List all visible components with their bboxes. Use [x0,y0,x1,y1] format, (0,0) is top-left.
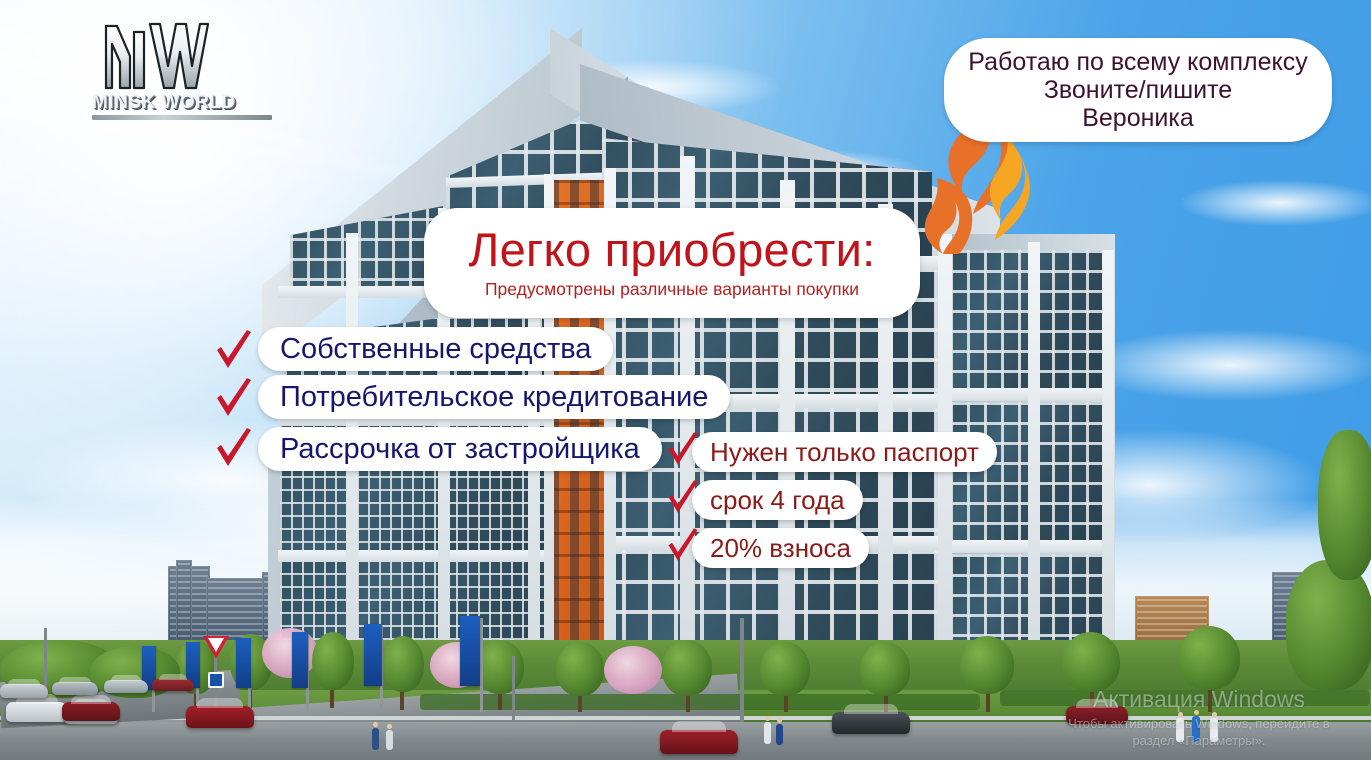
banner-flag [364,624,382,686]
promo-image: MINSK WORLD Работаю по всему комплексу З… [0,0,1371,760]
contact-line-1: Работаю по всему комплексу [968,48,1307,76]
installment-pill-2[interactable]: срок 4 года [692,480,863,520]
contact-line-3: Вероника [1082,104,1194,132]
contact-line-2: Звоните/пишите [1044,76,1232,104]
tree [382,636,424,692]
pedestrian [776,724,783,745]
tree [1178,626,1240,690]
option-pill-2[interactable]: Потребительское кредитование [258,375,730,419]
option-label-3: Рассрочка от застройщика [280,433,640,466]
car [832,712,910,734]
check-mark-icon [214,428,254,472]
yield-sign-icon [203,636,229,659]
tree [1062,632,1120,692]
sign-post [512,656,515,720]
tree [960,636,1014,694]
pedestrian [1210,718,1218,742]
facade-pilaster [1102,250,1114,670]
pedestrian [1176,718,1184,742]
tree [662,640,712,696]
tree [1286,560,1371,690]
tree [556,642,604,696]
tree [312,632,354,690]
tree [760,642,810,696]
pedestrian [764,722,771,744]
tree [860,642,910,696]
option-label-1: Собственные средства [280,333,591,366]
option-pill-3[interactable]: Рассрочка от застройщика [258,427,662,471]
car [6,702,68,722]
car [104,680,148,693]
logo-underbar [92,115,272,120]
banner-flag [460,616,480,686]
blossom-tree [604,646,662,694]
check-mark-icon [214,378,254,422]
banner-flag [292,632,308,688]
car [62,702,120,721]
car [186,706,254,728]
contact-bubble: Работаю по всему комплексу Звоните/пишит… [944,38,1332,142]
car [152,679,194,691]
flag-pole [480,618,483,712]
car [660,730,738,754]
installment-pill-1[interactable]: Нужен только паспорт [692,432,997,472]
car [52,682,98,695]
hedge [1000,690,1370,706]
installment-label-2: срок 4 года [710,485,845,516]
mw-monogram-icon [100,18,210,92]
blossom-tree [262,628,318,678]
tree [476,640,524,694]
option-pill-1[interactable]: Собственные средства [258,327,613,371]
car [1066,706,1128,724]
minsk-world-logo: MINSK WORLD [92,18,272,118]
pedestrian [372,728,379,750]
check-mark-icon [214,330,254,374]
page-title: Легко приобрести: [468,226,875,273]
pedestrian-crossing-sign-icon [208,672,224,688]
pedestrian [1192,716,1200,742]
page-subtitle: Предусмотрены различные варианты покупки [485,279,859,300]
lamp-post [740,618,744,722]
pedestrian [386,730,393,750]
headline-bubble: Легко приобрести: Предусмотрены различны… [424,208,920,318]
installment-label-1: Нужен только паспорт [710,437,979,468]
installment-label-3: 20% взноса [710,533,851,564]
tree [1318,430,1371,580]
logo-wordmark: MINSK WORLD [92,92,272,114]
facade-pilaster [1028,242,1040,670]
installment-pill-3[interactable]: 20% взноса [692,528,869,568]
option-label-2: Потребительское кредитование [280,381,708,414]
car [0,684,48,698]
banner-flag [236,638,251,688]
